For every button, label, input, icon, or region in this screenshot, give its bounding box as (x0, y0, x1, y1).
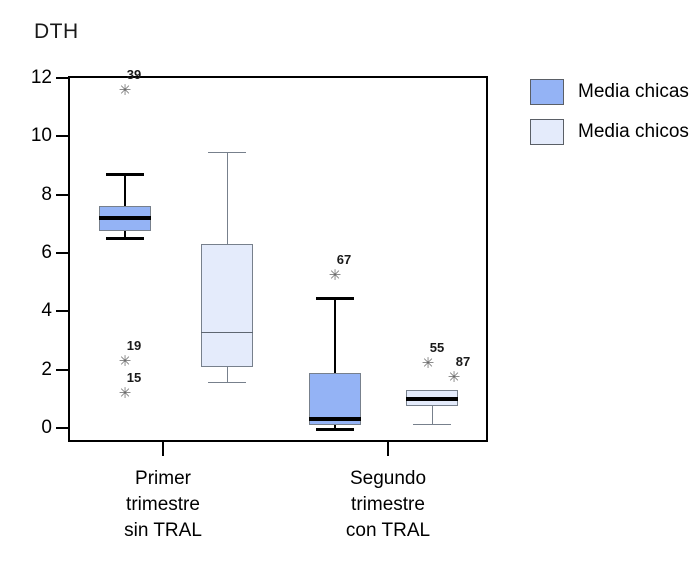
x-axis-category-label-line: con TRAL (288, 518, 488, 544)
y-axis-tick (56, 310, 68, 312)
outlier-marker: ✳ (327, 268, 343, 283)
whisker-cap-upper (316, 297, 354, 300)
outlier-label: 67 (331, 253, 357, 266)
whisker-lower (227, 367, 228, 382)
x-axis-category-label-line: trimestre (63, 492, 263, 518)
x-axis-category-label: Primertrimestresin TRAL (63, 466, 263, 544)
y-axis-tick-label: 0 (18, 418, 52, 437)
x-axis-category-label: Segundotrimestrecon TRAL (288, 466, 488, 544)
y-axis-tick (56, 77, 68, 79)
whisker-upper (227, 152, 228, 244)
y-axis-tick (56, 252, 68, 254)
y-axis-tick (56, 369, 68, 371)
outlier-label: 19 (121, 339, 147, 352)
whisker-cap-lower (413, 424, 451, 425)
outlier-marker: ✳ (117, 83, 133, 98)
outlier-label: 39 (121, 68, 147, 81)
legend-item[interactable]: Media chicas (530, 72, 695, 112)
x-axis-category-label-line: Primer (63, 466, 263, 492)
y-axis-tick-label: 8 (18, 185, 52, 204)
box-iqr (201, 244, 253, 367)
whisker-cap-lower (106, 237, 144, 240)
whisker-cap-lower (316, 428, 354, 431)
legend-label: Media chicas (578, 81, 689, 103)
y-axis-tick (56, 194, 68, 196)
y-axis-tick (56, 135, 68, 137)
median-line (309, 417, 361, 421)
outlier-label: 15 (121, 371, 147, 384)
legend-swatch (530, 79, 564, 105)
median-line (406, 397, 458, 401)
outlier-label: 87 (450, 355, 476, 368)
legend: Media chicasMedia chicos (530, 72, 695, 152)
outlier-marker: ✳ (446, 370, 462, 385)
whisker-upper (334, 297, 336, 373)
x-axis-tick (162, 442, 164, 456)
median-line (201, 332, 253, 333)
x-axis-category-label-line: trimestre (288, 492, 488, 518)
outlier-marker: ✳ (420, 356, 436, 371)
whisker-upper (124, 173, 126, 207)
whisker-lower (432, 406, 433, 424)
legend-label: Media chicos (578, 121, 689, 143)
x-axis-category-label-line: sin TRAL (63, 518, 263, 544)
y-axis-tick-label: 4 (18, 301, 52, 320)
y-axis-tick (56, 427, 68, 429)
outlier-label: 55 (424, 341, 450, 354)
median-line (99, 216, 151, 220)
legend-swatch (530, 119, 564, 145)
whisker-cap-upper (106, 173, 144, 176)
legend-item[interactable]: Media chicos (530, 112, 695, 152)
outlier-marker: ✳ (117, 354, 133, 369)
y-axis-tick-label: 6 (18, 243, 52, 262)
whisker-cap-lower (208, 382, 246, 383)
y-axis-tick-label: 12 (18, 68, 52, 87)
x-axis-category-label-line: Segundo (288, 466, 488, 492)
y-axis-tick-label: 2 (18, 360, 52, 379)
outlier-marker: ✳ (117, 386, 133, 401)
whisker-cap-upper (208, 152, 246, 153)
x-axis-tick (387, 442, 389, 456)
y-axis-title: DTH (34, 20, 79, 44)
y-axis-tick-label: 10 (18, 126, 52, 145)
